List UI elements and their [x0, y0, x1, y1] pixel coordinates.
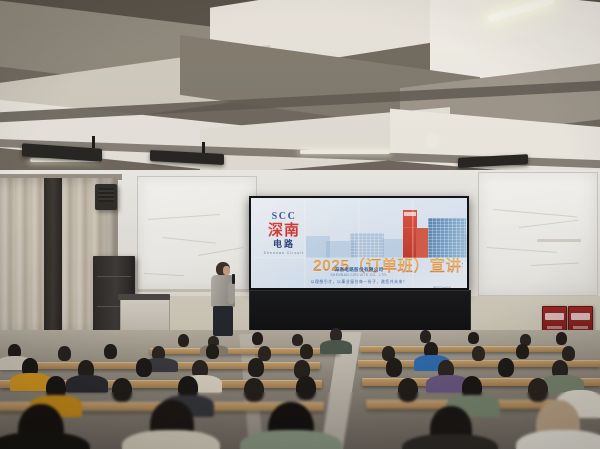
presenter-legs [213, 306, 233, 336]
headquarters-skyline-graphic [306, 202, 465, 258]
slide-tagline: 以理想引才，以事业留住每一份子，邀您共未来！ [251, 280, 467, 285]
glass-office-building [428, 218, 466, 258]
slide-signature: —— 期待与你相遇 [251, 286, 467, 288]
led-video-wall[interactable]: SCC 深南 电路 Shennan Circuit 2025（订单班）宣讲会 深… [249, 196, 469, 290]
slide-company-english: SHENNAN CIRCUITS CO., LTD. [251, 273, 467, 277]
curtain-gap-dark [44, 178, 62, 338]
fluorescent-tube-ceiling-center [300, 150, 390, 154]
presenter-arm [228, 282, 235, 304]
lecture-hall-screenshot: SCC 深南 电路 Shennan Circuit 2025（订单班）宣讲会 深… [0, 0, 600, 449]
lectern-top [118, 294, 170, 300]
logo-chinese-name: 深南 [257, 223, 311, 239]
downlight-center [428, 138, 437, 144]
whiteboard-right [478, 172, 598, 296]
ceiling [0, 0, 600, 182]
blackboard-strip [249, 290, 471, 334]
presenter-face [223, 266, 230, 275]
logo-chinese-name-2: 电路 [257, 240, 311, 250]
presentation-slide: SCC 深南 电路 Shennan Circuit 2025（订单班）宣讲会 深… [251, 198, 467, 288]
speaker-presenting [206, 262, 240, 334]
company-logo: SCC 深南 电路 Shennan Circuit [257, 212, 311, 255]
logo-english-name: Shennan Circuit [257, 251, 311, 255]
presenter-microphone [232, 274, 235, 284]
wall-speaker [95, 184, 117, 210]
red-tower [403, 210, 417, 258]
